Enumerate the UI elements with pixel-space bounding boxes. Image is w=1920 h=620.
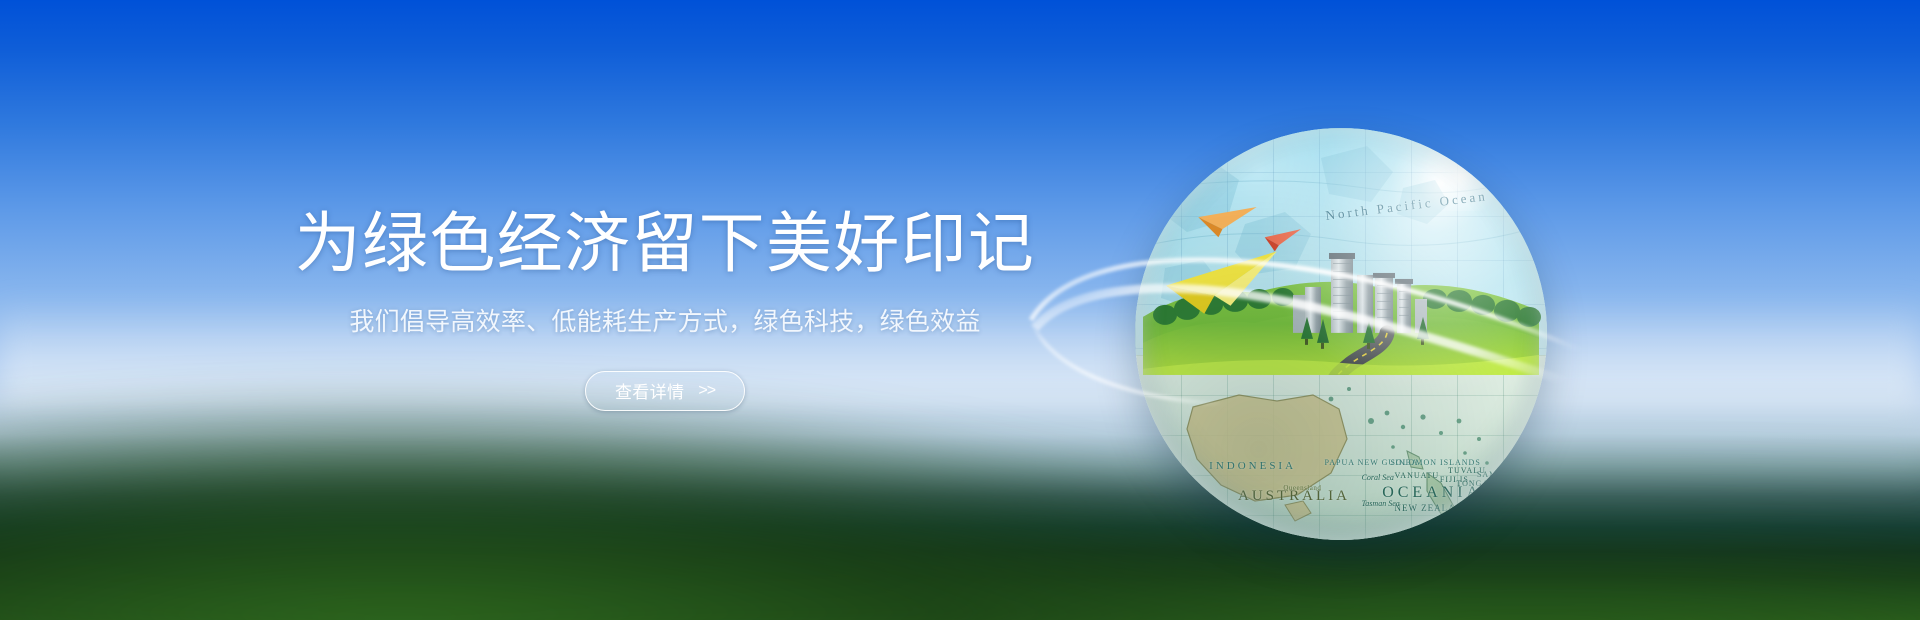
banner-copy-block: 为绿色经济留下美好印记 我们倡导高效率、低能耗生产方式，绿色科技，绿色效益 查看…: [0, 0, 1330, 620]
banner-subtitle: 我们倡导高效率、低能耗生产方式，绿色科技，绿色效益: [349, 310, 980, 335]
view-details-label: 查看详情: [615, 378, 684, 403]
page-title: 为绿色经济留下美好印记: [295, 210, 1036, 276]
view-details-button[interactable]: 查看详情 >>: [585, 371, 745, 411]
double-chevron-right-icon: >>: [698, 382, 715, 400]
hero-banner: AUSTRALIA OCEANIA NEW ZEALAND INDONESIA …: [0, 0, 1920, 620]
